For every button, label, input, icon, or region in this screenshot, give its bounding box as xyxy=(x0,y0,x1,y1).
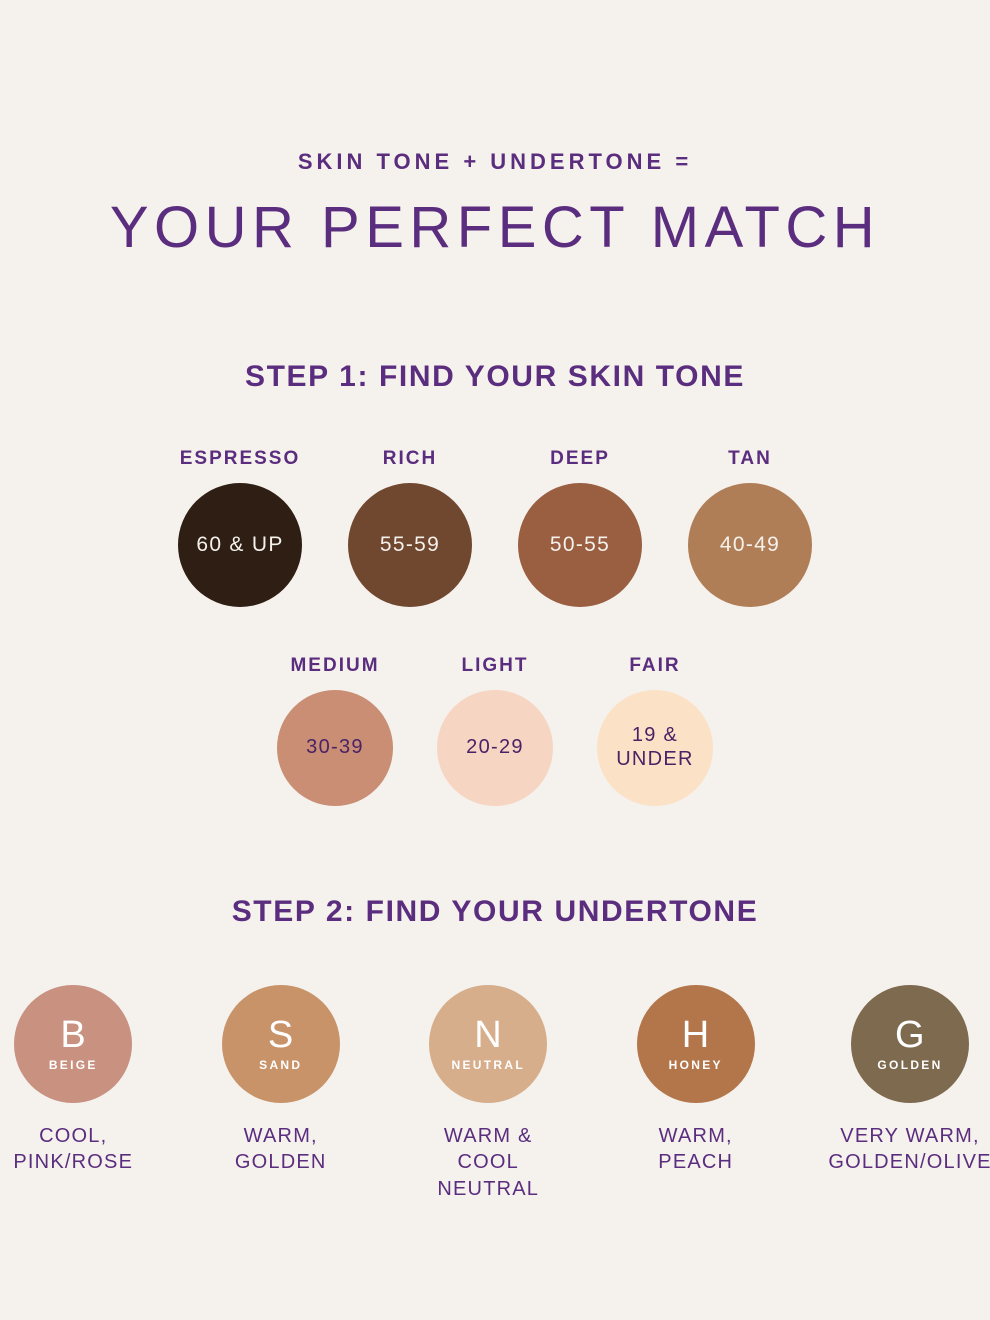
header: SKIN TONE + UNDERTONE = YOUR PERFECT MAT… xyxy=(0,150,990,259)
undertone-item-beige[interactable]: BBEIGECOOL, PINK/ROSE xyxy=(0,985,147,1202)
skin-tone-row-2: MEDIUM30-39LIGHT20-29FAIR19 & UNDER xyxy=(0,655,990,806)
skin-tone-range: 19 & UNDER xyxy=(616,724,694,771)
undertone-name: NEUTRAL xyxy=(452,1059,525,1071)
skin-tone-swatch[interactable]: 30-39 xyxy=(277,690,393,806)
skin-tone-swatch[interactable]: 20-29 xyxy=(437,690,553,806)
undertone-row: BBEIGECOOL, PINK/ROSESSANDWARM, GOLDENNN… xyxy=(0,985,990,1202)
skin-tone-item-espresso[interactable]: ESPRESSO60 & UP xyxy=(178,448,302,607)
undertone-description: VERY WARM, GOLDEN/OLIVE xyxy=(828,1123,990,1176)
infographic-page: SKIN TONE + UNDERTONE = YOUR PERFECT MAT… xyxy=(0,0,990,1320)
undertone-item-neutral[interactable]: NNEUTRALWARM & COOL NEUTRAL xyxy=(415,985,562,1202)
undertone-description: WARM & COOL NEUTRAL xyxy=(415,1123,562,1202)
undertone-swatch[interactable]: GGOLDEN xyxy=(851,985,969,1103)
skin-tone-range: 55-59 xyxy=(380,533,440,558)
skin-tone-label: FAIR xyxy=(629,655,680,677)
skin-tone-item-tan[interactable]: TAN40-49 xyxy=(688,448,812,607)
eyebrow-text: SKIN TONE + UNDERTONE = xyxy=(0,150,990,174)
skin-tone-swatch[interactable]: 19 & UNDER xyxy=(597,690,713,806)
undertone-letter: N xyxy=(474,1017,502,1053)
undertone-item-golden[interactable]: GGOLDENVERY WARM, GOLDEN/OLIVE xyxy=(830,985,990,1202)
skin-tone-label: MEDIUM xyxy=(290,655,379,677)
skin-tone-range: 30-39 xyxy=(306,736,364,760)
undertone-letter: B xyxy=(60,1017,86,1053)
undertone-letter: S xyxy=(268,1017,294,1053)
skin-tone-range: 60 & UP xyxy=(196,533,283,558)
undertone-name: BEIGE xyxy=(49,1059,98,1071)
skin-tone-swatch[interactable]: 55-59 xyxy=(348,483,472,607)
undertone-name: GOLDEN xyxy=(877,1059,942,1071)
undertone-swatch[interactable]: HHONEY xyxy=(637,985,755,1103)
skin-tone-label: ESPRESSO xyxy=(180,448,301,470)
skin-tone-item-fair[interactable]: FAIR19 & UNDER xyxy=(597,655,713,806)
skin-tone-item-light[interactable]: LIGHT20-29 xyxy=(437,655,553,806)
undertone-letter: G xyxy=(895,1017,925,1053)
step-1-title: STEP 1: FIND YOUR SKIN TONE xyxy=(0,360,990,394)
page-title: YOUR PERFECT MATCH xyxy=(0,198,990,259)
undertone-item-honey[interactable]: HHONEYWARM, PEACH xyxy=(623,985,770,1202)
undertone-description: WARM, GOLDEN xyxy=(235,1123,327,1176)
undertone-name: SAND xyxy=(259,1059,302,1071)
skin-tone-swatch[interactable]: 40-49 xyxy=(688,483,812,607)
skin-tone-label: LIGHT xyxy=(462,655,529,677)
skin-tone-range: 20-29 xyxy=(466,736,524,760)
undertone-name: HONEY xyxy=(669,1059,723,1071)
undertone-swatch[interactable]: BBEIGE xyxy=(14,985,132,1103)
skin-tone-swatch[interactable]: 60 & UP xyxy=(178,483,302,607)
skin-tone-range: 40-49 xyxy=(720,533,780,558)
undertone-swatch[interactable]: NNEUTRAL xyxy=(429,985,547,1103)
skin-tone-item-medium[interactable]: MEDIUM30-39 xyxy=(277,655,393,806)
undertone-item-sand[interactable]: SSANDWARM, GOLDEN xyxy=(208,985,355,1202)
skin-tone-range: 50-55 xyxy=(550,533,610,558)
skin-tone-row-1: ESPRESSO60 & UPRICH55-59DEEP50-55TAN40-4… xyxy=(0,448,990,607)
undertone-swatch[interactable]: SSAND xyxy=(222,985,340,1103)
skin-tone-label: DEEP xyxy=(550,448,610,470)
skin-tone-item-rich[interactable]: RICH55-59 xyxy=(348,448,472,607)
undertone-description: WARM, PEACH xyxy=(658,1123,733,1176)
skin-tone-label: TAN xyxy=(728,448,772,470)
undertone-description: COOL, PINK/ROSE xyxy=(13,1123,133,1176)
step-2-title: STEP 2: FIND YOUR UNDERTONE xyxy=(0,895,990,929)
skin-tone-label: RICH xyxy=(383,448,437,470)
skin-tone-item-deep[interactable]: DEEP50-55 xyxy=(518,448,642,607)
skin-tone-swatch[interactable]: 50-55 xyxy=(518,483,642,607)
undertone-letter: H xyxy=(682,1017,710,1053)
